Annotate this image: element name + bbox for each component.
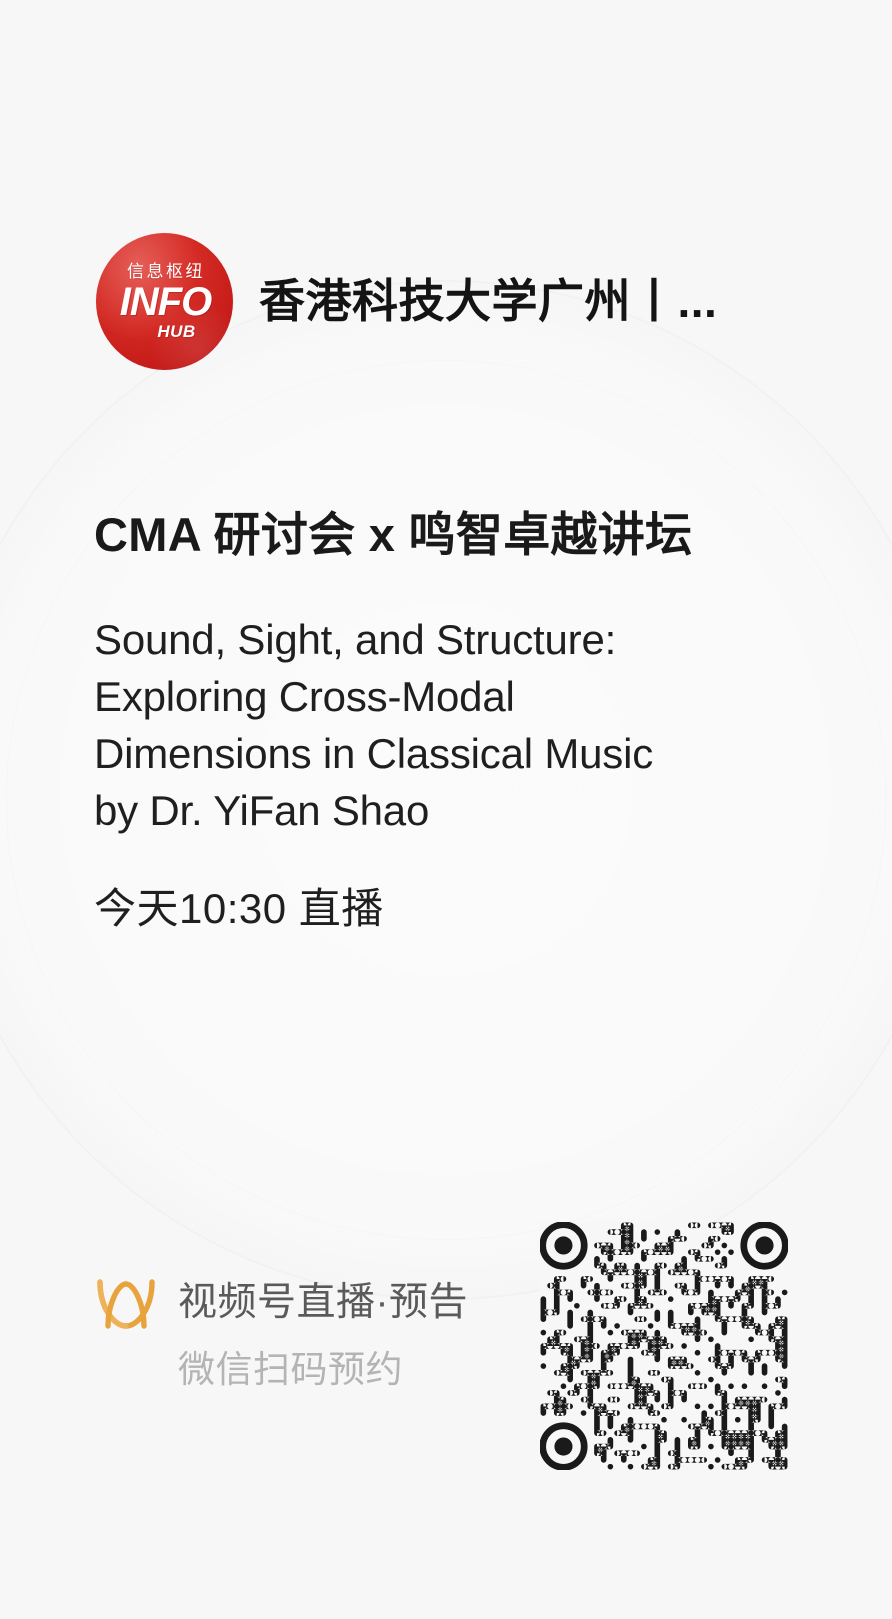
- account-header[interactable]: 信息枢纽 INFO HUB 香港科技大学广州丨...: [96, 233, 717, 370]
- avatar-logo-content: 信息枢纽 INFO HUB: [96, 233, 233, 370]
- qr-code-image: [540, 1222, 788, 1470]
- live-preview-poster: 信息枢纽 INFO HUB 香港科技大学广州丨... CMA 研讨会 x 鸣智卓…: [0, 0, 892, 1619]
- avatar-info-wordmark: INFO: [120, 284, 212, 321]
- qr-code[interactable]: [540, 1222, 788, 1470]
- event-content: CMA 研讨会 x 鸣智卓越讲坛 Sound, Sight, and Struc…: [94, 505, 794, 936]
- avatar[interactable]: 信息枢纽 INFO HUB: [96, 233, 233, 370]
- footer-brand-label: 视频号直播·预告: [178, 1280, 468, 1327]
- event-subtitle-line: by Dr. YiFan Shao: [94, 782, 794, 839]
- footer-text-block: 视频号直播·预告 微信扫码预约: [94, 1258, 468, 1392]
- event-title: CMA 研讨会 x 鸣智卓越讲坛: [94, 505, 794, 565]
- avatar-chinese-label: 信息枢纽: [127, 263, 205, 280]
- event-subtitle: Sound, Sight, and Structure: Exploring C…: [94, 611, 794, 839]
- account-name[interactable]: 香港科技大学广州丨...: [259, 276, 717, 327]
- avatar-hub-wordmark: HUB: [157, 323, 195, 340]
- wechat-channels-icon: [94, 1274, 158, 1332]
- footer-brand-row: 视频号直播·预告: [94, 1274, 468, 1332]
- poster-footer: 视频号直播·预告 微信扫码预约: [94, 1258, 798, 1470]
- event-time: 今天10:30 直播: [94, 882, 794, 937]
- footer-scan-hint: 微信扫码预约: [178, 1348, 468, 1392]
- event-subtitle-line: Exploring Cross-Modal: [94, 668, 794, 725]
- event-subtitle-line: Dimensions in Classical Music: [94, 725, 794, 782]
- event-subtitle-line: Sound, Sight, and Structure:: [94, 611, 794, 668]
